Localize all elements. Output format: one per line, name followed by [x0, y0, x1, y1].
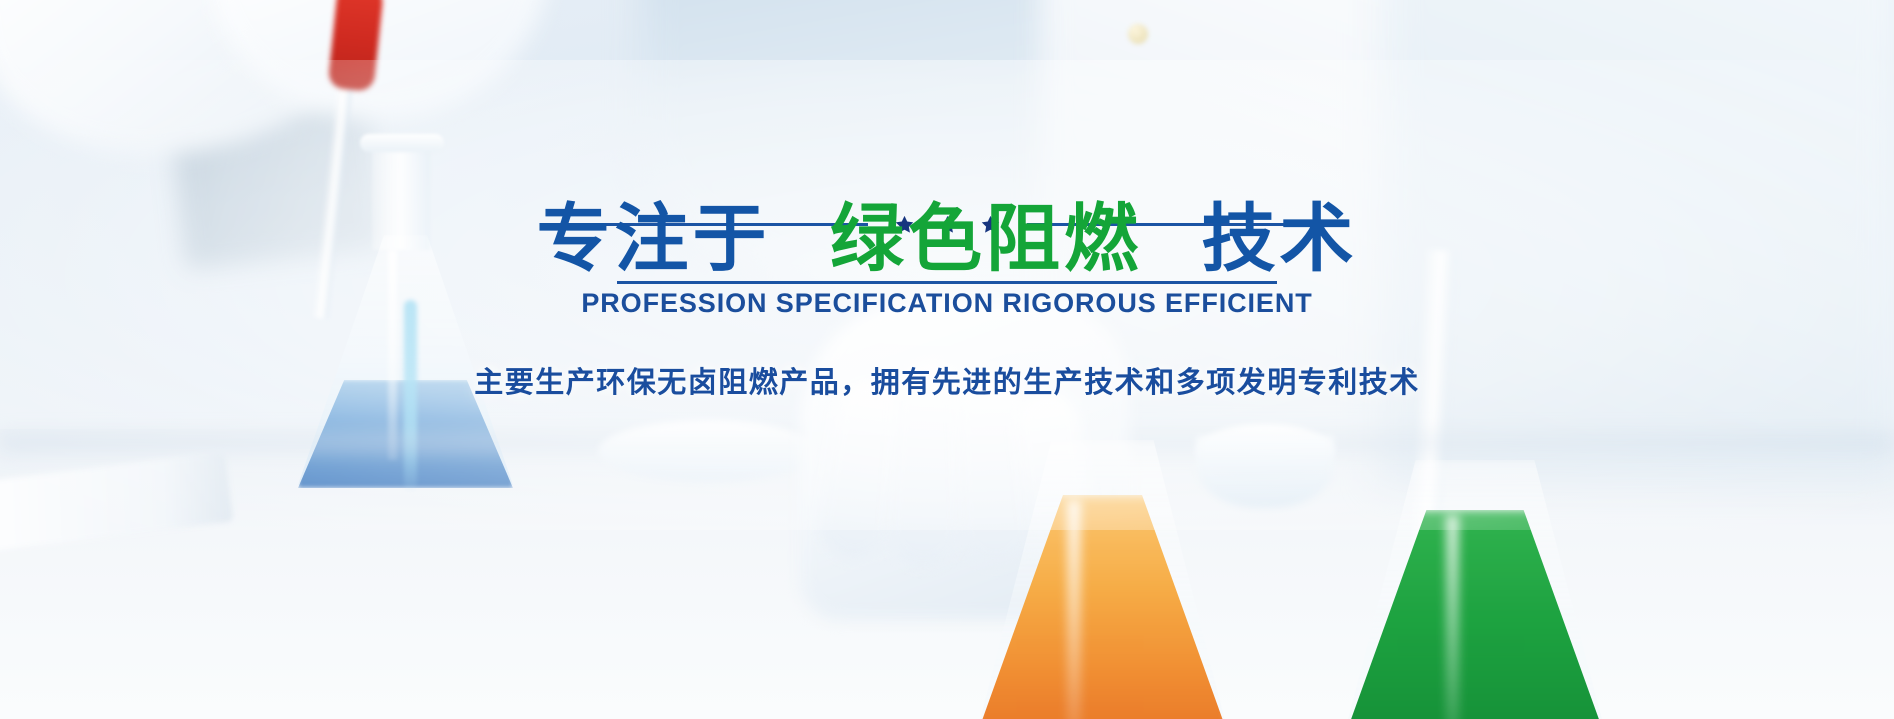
headline-part-1: 专注于: [536, 196, 770, 282]
page-title: 专注于 绿色阻燃 技术: [0, 196, 1894, 283]
subtitle-chinese: 主要生产环保无卤阻燃产品，拥有先进的生产技术和多项发明专利技术: [0, 359, 1894, 401]
headline-part-2: 绿色阻燃: [830, 196, 1142, 282]
subtitle-english: PROFESSION SPECIFICATION RIGOROUS EFFICI…: [0, 288, 1894, 319]
headline-part-3: 技术: [1202, 196, 1358, 282]
banner-content: 专注于 绿色阻燃 技术 PROFESSION SPECIFICATION RIG…: [0, 0, 1894, 719]
headline-underline: [617, 281, 1277, 284]
hero-banner: 专注于 绿色阻燃 技术 PROFESSION SPECIFICATION RIG…: [0, 0, 1894, 719]
